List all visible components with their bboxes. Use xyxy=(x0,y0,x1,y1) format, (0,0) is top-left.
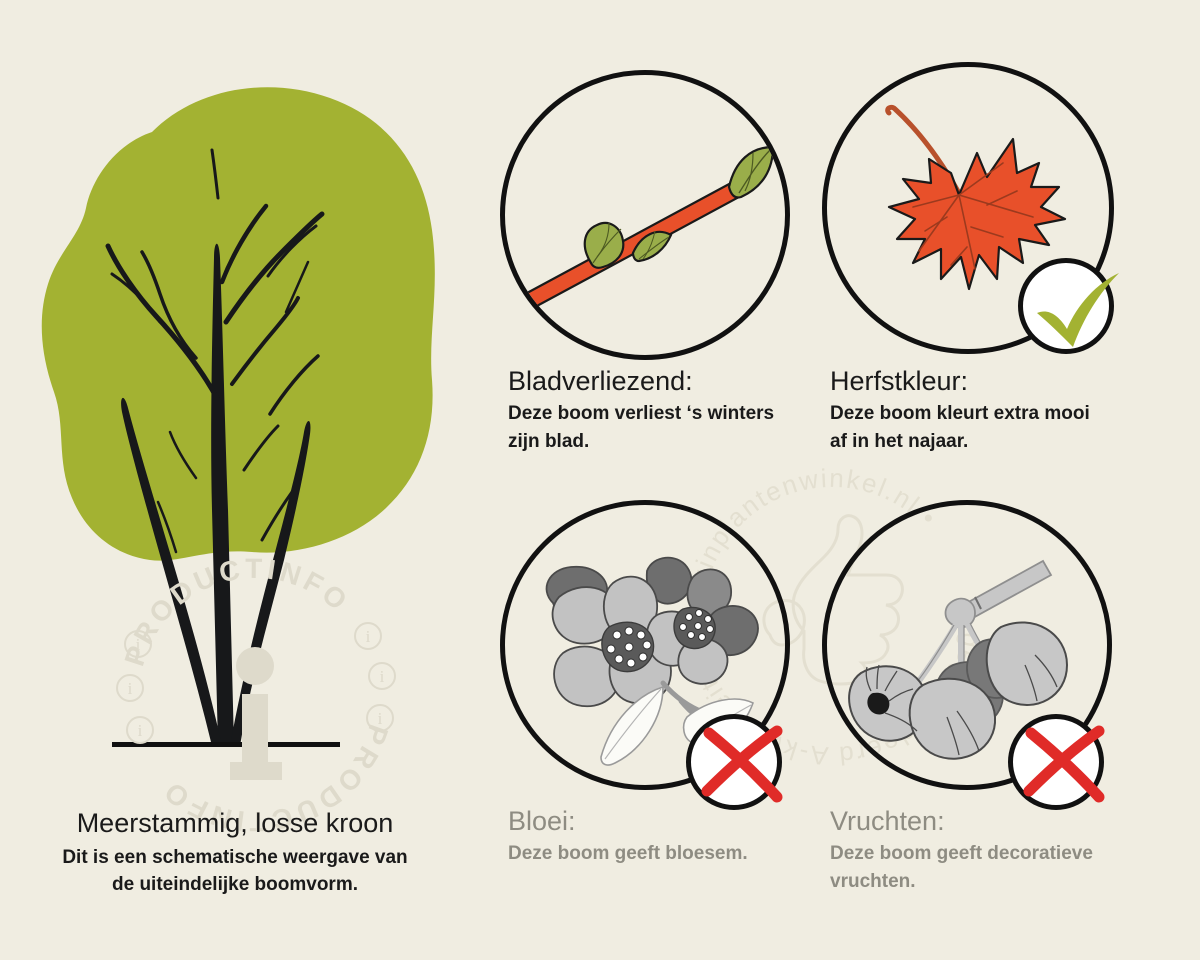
bladverliezend-body: Deze boom verliest ‘s winters zijn blad. xyxy=(508,400,774,455)
tree-description: Dit is een schematische weergave van de … xyxy=(0,845,470,899)
bloei-badge-cross xyxy=(686,714,782,810)
stamen-cluster-right xyxy=(674,607,715,648)
multi-stem-tree-illustration xyxy=(0,40,480,800)
infographic-canvas: PRODUCTINFO PRODUCTINFO iii iii Meerstam… xyxy=(0,0,1200,960)
bladverliezend-body-line-1: Deze boom verliest ‘s winters xyxy=(508,400,774,428)
tree-title: Meerstammig, losse kroon xyxy=(0,808,470,839)
bloei-title: Bloei: xyxy=(508,805,748,837)
bladverliezend-body-line-2: zijn blad. xyxy=(508,428,774,456)
herfstkleur-badge-check xyxy=(1018,258,1114,354)
tree-caption: Meerstammig, losse kroon Dit is een sche… xyxy=(0,808,470,899)
herfstkleur-title: Herfstkleur: xyxy=(830,365,1090,397)
bladverliezend-text: Bladverliezend: Deze boom verliest ‘s wi… xyxy=(508,365,774,455)
tree-description-line-2: de uiteindelijke boomvorm. xyxy=(0,872,470,899)
herfstkleur-body: Deze boom kleurt extra mooi af in het na… xyxy=(830,400,1090,455)
bladverliezend-title: Bladverliezend: xyxy=(508,365,774,397)
bloei-body-line-1: Deze boom geeft bloesem. xyxy=(508,840,748,868)
vruchten-badge-cross xyxy=(1008,714,1104,810)
tree-description-line-1: Dit is een schematische weergave van xyxy=(0,845,470,872)
vruchten-body-line-2: vruchten. xyxy=(830,868,1093,896)
feature-card-bloei[interactable]: Bloei: Deze boom geeft bloesem. xyxy=(500,500,800,800)
bloei-text: Bloei: Deze boom geeft bloesem. xyxy=(508,805,748,868)
vruchten-body: Deze boom geeft decoratieve vruchten. xyxy=(830,840,1093,895)
budding-twig-icon xyxy=(505,75,785,355)
ground-line xyxy=(112,742,340,747)
feature-card-bladverliezend[interactable]: Bladverliezend: Deze boom verliest ‘s wi… xyxy=(500,70,790,360)
vruchten-title: Vruchten: xyxy=(830,805,1093,837)
feature-card-vruchten[interactable]: Vruchten: Deze boom geeft decoratieve vr… xyxy=(822,500,1122,800)
stamen-cluster-left xyxy=(602,622,654,672)
herfstkleur-body-line-1: Deze boom kleurt extra mooi xyxy=(830,400,1090,428)
feature-card-herfstkleur[interactable]: Herfstkleur: Deze boom kleurt extra mooi… xyxy=(822,62,1122,362)
bloei-body: Deze boom geeft bloesem. xyxy=(508,840,748,868)
vruchten-text: Vruchten: Deze boom geeft decoratieve vr… xyxy=(830,805,1093,895)
herfstkleur-body-line-2: af in het najaar. xyxy=(830,428,1090,456)
check-icon xyxy=(1015,255,1127,367)
tree-panel: PRODUCTINFO PRODUCTINFO iii iii Meerstam… xyxy=(0,0,480,960)
vruchten-body-line-1: Deze boom geeft decoratieve xyxy=(830,840,1093,868)
tree-crown xyxy=(42,87,435,560)
bladverliezend-circle xyxy=(500,70,790,360)
herfstkleur-text: Herfstkleur: Deze boom kleurt extra mooi… xyxy=(830,365,1090,455)
